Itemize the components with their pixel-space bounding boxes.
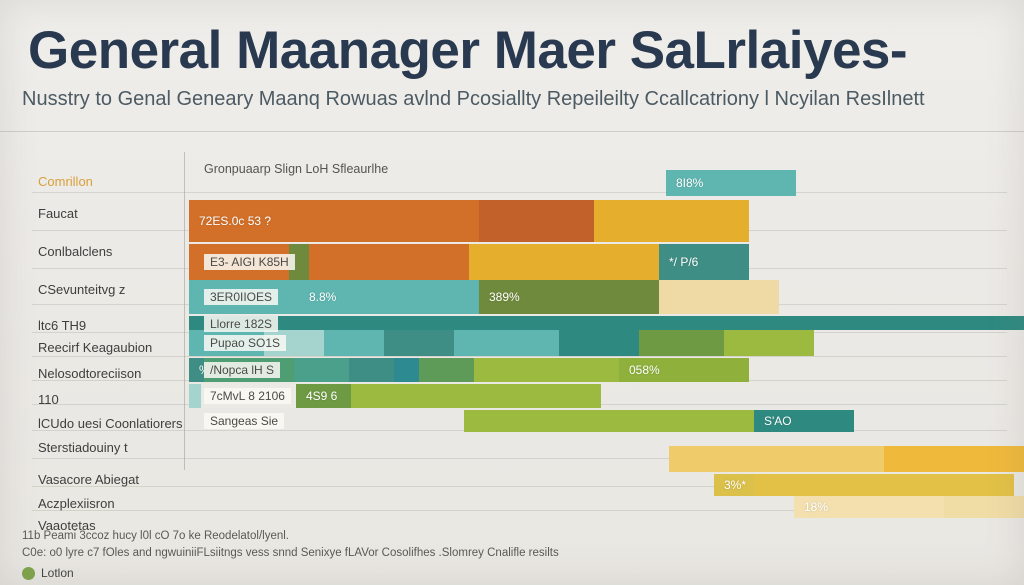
chart-bar-segment: [724, 330, 814, 356]
chart-row-label: Aczplexiisron: [38, 496, 115, 511]
legend-label: Lotlon: [41, 566, 74, 580]
chart-bar-row: [669, 446, 1024, 472]
chart-bar-segment: 8.8%: [299, 280, 479, 314]
chart-bar-value-label: 8I8%: [666, 176, 703, 190]
chart-bar-segment: 4S9 6: [296, 384, 351, 408]
chart-bar-segment: %: [189, 358, 204, 382]
chart-row-label: Faucat: [38, 206, 78, 221]
chart-bar-segment: [189, 316, 1024, 330]
chart-bar-segment: 18%: [794, 496, 944, 518]
chart-area: ComrillonFaucatConlbalclensCSevunteitvg …: [14, 140, 1014, 530]
chart-bar-segment: [294, 358, 349, 382]
chart-legend: Lotlon: [22, 566, 1002, 580]
chart-row-label: 110: [38, 392, 59, 407]
chart-bar-segment: [189, 384, 201, 408]
footer: 11b Peami 3ccoz hucy l0l cO 7o ke Reodel…: [22, 528, 1002, 580]
chart-bar-row: 72ES.0c 53 ?: [189, 200, 749, 242]
chart-bar-segment: [944, 496, 1024, 518]
header: General Maanager Maer SaLrlaiyes- Nusstr…: [0, 0, 1024, 133]
legend-color-dot: [22, 567, 35, 580]
chart-bar-value-label: 72ES.0c 53 ?: [189, 214, 271, 228]
chart-row-label: Reecirf Keagaubion: [38, 340, 152, 355]
chart-bar-row: 3%*: [714, 474, 1014, 496]
footnote-line-2: C0e: o0 lyre c7 fOles and ngwuiniiFLsiit…: [22, 545, 1002, 562]
chart-row-label: lCUdo uesi Coonlatiorers: [38, 416, 183, 431]
chart-bar-segment: [454, 330, 559, 356]
chart-bar-segment: [394, 358, 419, 382]
footnote-line-1: 11b Peami 3ccoz hucy l0l cO 7o ke Reodel…: [22, 528, 1002, 545]
chart-inline-note: Llorre 182S: [204, 316, 278, 332]
chart-row-label: Sterstiadouiny t: [38, 440, 128, 455]
chart-bar-segment: [474, 358, 544, 382]
chart-bar-segment: 8I8%: [666, 170, 796, 196]
chart-bar-value-label: 4S9 6: [296, 389, 337, 403]
chart-bar-value-label: 18%: [794, 500, 828, 514]
chart-inline-note: /Nopca lH S: [204, 362, 280, 378]
header-divider: [0, 131, 1024, 132]
chart-gridline: [32, 192, 1007, 193]
chart-row-label: Nelosodtoreciison: [38, 366, 141, 381]
chart-inline-note: 3ER0IIOES: [204, 289, 278, 305]
chart-bar-segment: [559, 330, 639, 356]
chart-bar-segment: [419, 358, 474, 382]
chart-bar-segment: [639, 330, 724, 356]
chart-bar-segment: [324, 330, 384, 356]
chart-series-header: Gronpuaarp Slign LoH Sfleaurlhe: [204, 162, 388, 176]
chart-bar-value-label: %: [189, 363, 204, 377]
chart-bar-segment: [594, 200, 749, 242]
chart-bar-value-label: 3%*: [714, 478, 746, 492]
chart-row-label: Comrillon: [38, 174, 93, 189]
chart-inline-note: 7cMvL 8 2106: [204, 388, 291, 404]
chart-bar-row: S'AO: [464, 410, 854, 432]
chart-bar-segment: [349, 358, 394, 382]
chart-bar-segment: [464, 410, 754, 432]
chart-row-label: Conlbalclens: [38, 244, 112, 259]
chart-bar-segment: [351, 384, 601, 408]
chart-bar-value-label: S'AO: [754, 414, 792, 428]
chart-bar-value-label: 8.8%: [299, 290, 336, 304]
chart-bar-value-label: 058%: [619, 363, 660, 377]
chart-gridline: [32, 356, 1007, 357]
chart-bar-segment: S'AO: [754, 410, 854, 432]
infographic-page: General Maanager Maer SaLrlaiyes- Nusstr…: [0, 0, 1024, 585]
chart-axis-line: [184, 152, 185, 470]
chart-inline-note: E3- AIGI K85H: [204, 254, 295, 270]
chart-bar-segment: 389%: [479, 280, 659, 314]
chart-bar-segment: */ P/6: [659, 244, 749, 280]
page-subtitle: Nusstry to Genal Geneary Maanq Rowuas av…: [22, 88, 925, 111]
chart-bar-segment: [544, 358, 619, 382]
chart-bar-segment: [479, 200, 594, 242]
chart-bar-row: [189, 316, 1024, 330]
chart-inline-note: Sangeas Sie: [204, 413, 284, 429]
chart-bar-segment: [884, 446, 1024, 472]
chart-inline-note: Pupao SO1S: [204, 335, 286, 351]
chart-row-label: Vasacore Abiegat: [38, 472, 139, 487]
chart-bar-row: 8I8%: [666, 170, 796, 196]
chart-bar-segment: [469, 244, 659, 280]
chart-bar-segment: 3%*: [714, 474, 754, 496]
chart-bar-segment: 72ES.0c 53 ?: [189, 200, 479, 242]
chart-bar-segment: [384, 330, 454, 356]
chart-bar-segment: 058%: [619, 358, 749, 382]
chart-bar-value-label: 389%: [479, 290, 520, 304]
chart-row-label: ltc6 TH9: [38, 318, 86, 333]
chart-bar-segment: [659, 280, 779, 314]
chart-bar-row: 18%: [794, 496, 1024, 518]
chart-bar-value-label: */ P/6: [659, 255, 698, 269]
chart-bar-segment: [754, 474, 1014, 496]
chart-bar-segment: [669, 446, 884, 472]
chart-bar-segment: [309, 244, 469, 280]
page-title: General Maanager Maer SaLrlaiyes-: [28, 20, 907, 81]
chart-row-label: CSevunteitvg z: [38, 282, 125, 297]
